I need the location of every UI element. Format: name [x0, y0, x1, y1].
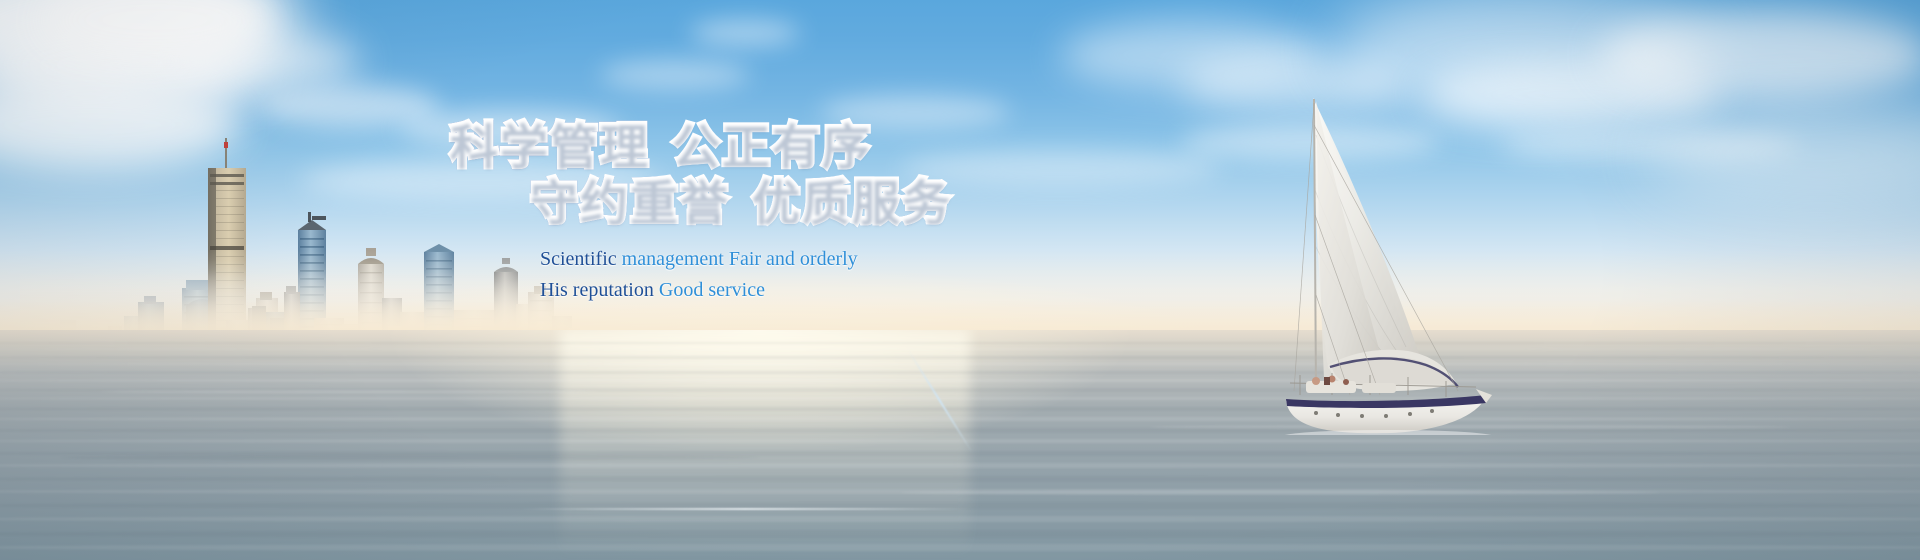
headline-line1-part1: 科学管理	[450, 120, 650, 172]
subtitle-line2-b: Good service	[659, 279, 765, 301]
subtitle-line-1: Scientific management Fair and orderly	[430, 246, 990, 272]
headline-line2-part1: 守约重誉	[530, 176, 730, 228]
headline-line1-part2: 公正有序	[672, 120, 872, 172]
sailboat-svg	[1280, 95, 1580, 435]
sailboat	[1280, 95, 1580, 435]
headline-line2-part2: 优质服务	[752, 176, 952, 228]
subtitle-line-2: His reputation Good service	[430, 277, 990, 303]
water-highlight-line	[520, 508, 970, 510]
banner-copy: 科学管理公正有序 守约重誉优质服务 Scientific management …	[430, 120, 990, 303]
subtitle-line2-a: His reputation	[540, 279, 659, 301]
subtitle-line1-b: management Fair and orderly	[622, 248, 858, 270]
headline-line-1: 科学管理公正有序	[430, 120, 990, 172]
subtitle-line1-a: Scientific	[540, 248, 622, 270]
sea-water	[0, 330, 1920, 560]
headline-line-2: 守约重誉优质服务	[430, 176, 990, 228]
hero-banner: 科学管理公正有序 守约重誉优质服务 Scientific management …	[0, 0, 1920, 560]
